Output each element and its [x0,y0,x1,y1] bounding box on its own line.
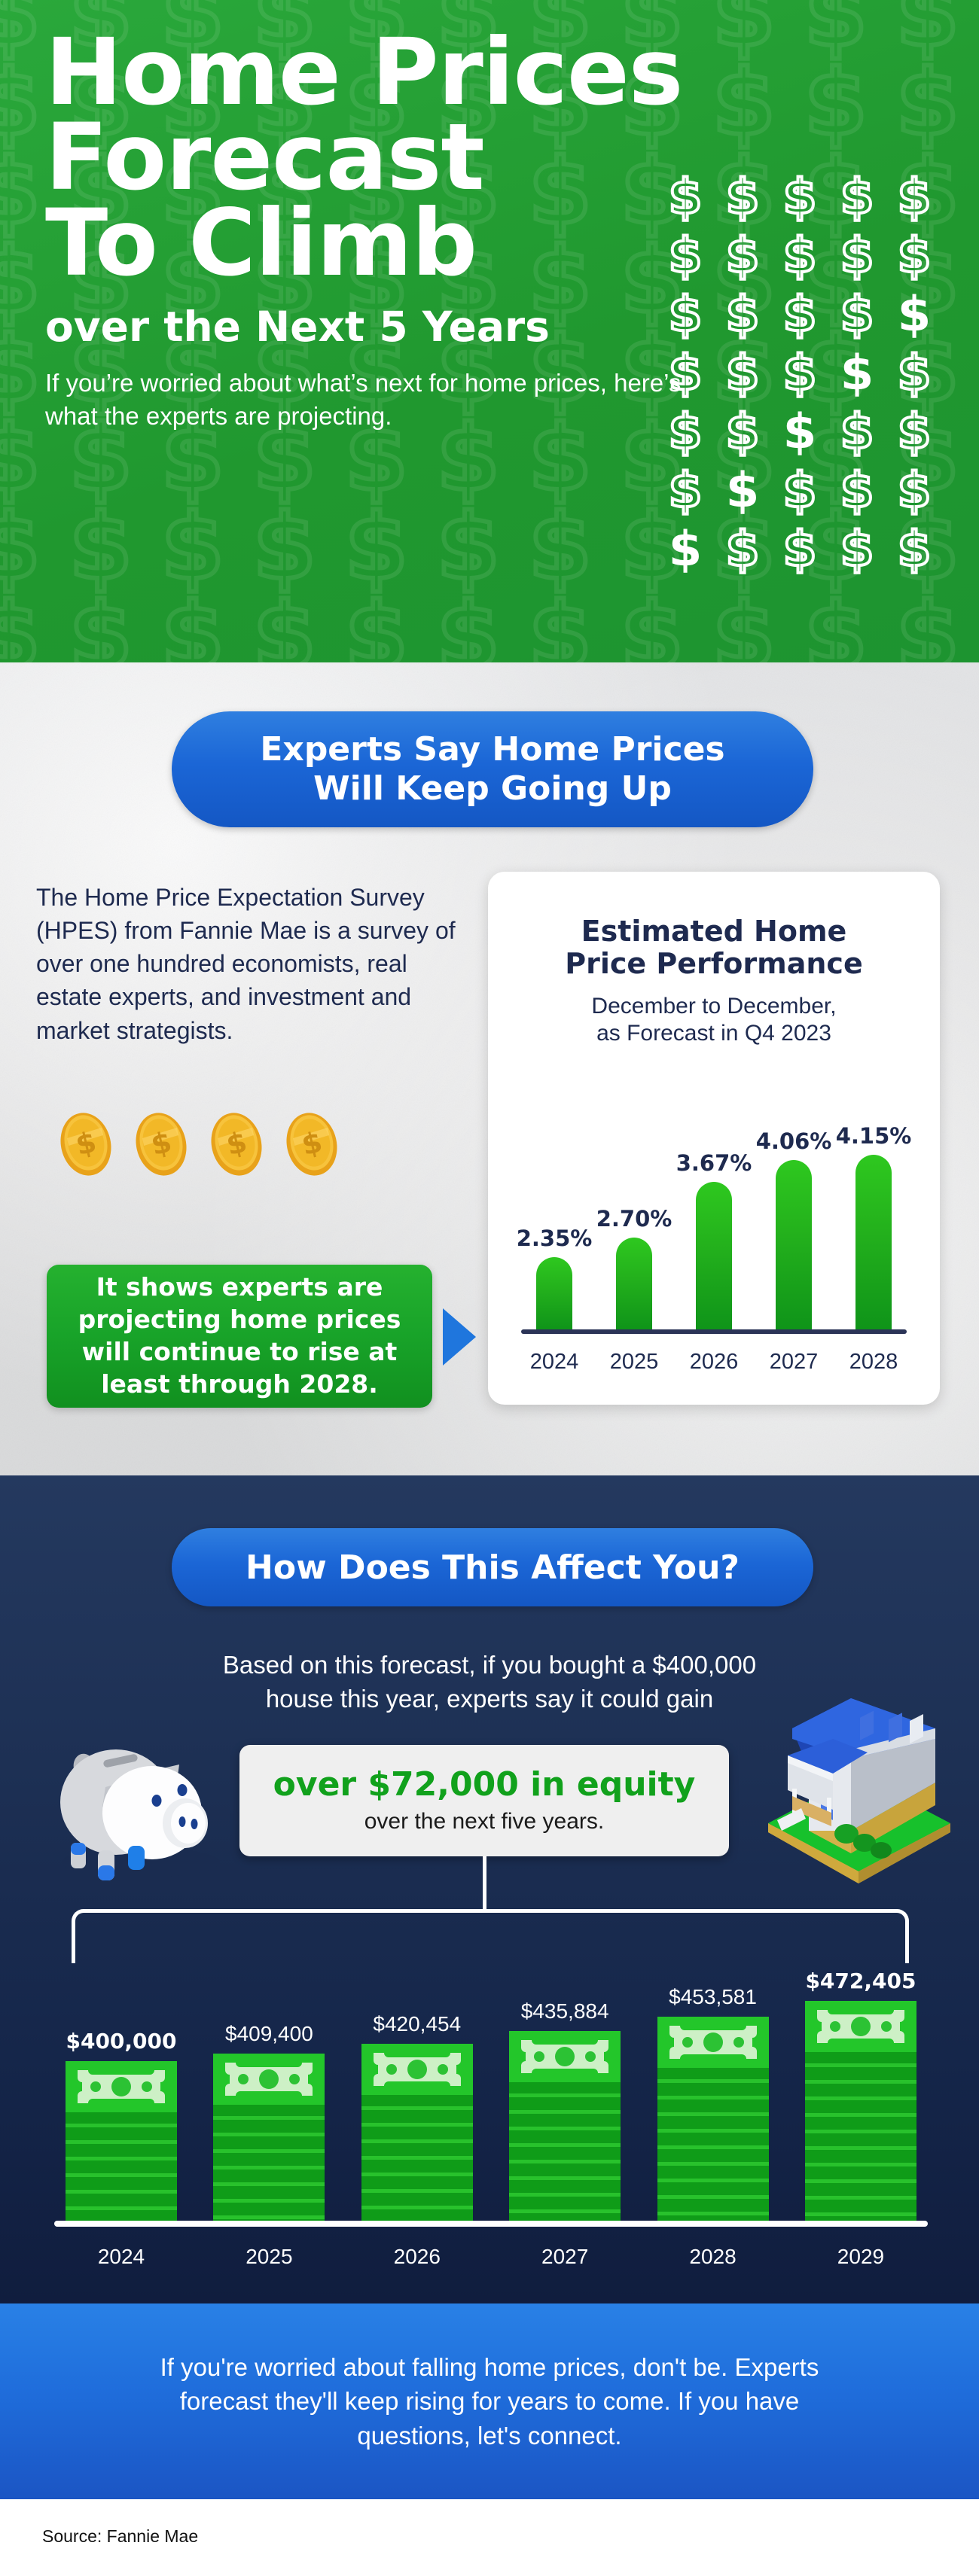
chart1-bar-group: 2.35% [521,1226,587,1329]
dollar-sign-icon: $ [886,463,943,522]
source-note: Source: Fannie Mae [42,2526,198,2547]
chart1-bar [776,1160,812,1329]
chart1-axis-line [521,1329,907,1334]
equity-subtext: over the next five years. [364,1809,605,1835]
hero-blurb: If you’re worried about what’s next for … [45,367,723,433]
coin-row: $$$$ [56,1108,341,1177]
chart2-bar [66,2061,177,2221]
dollar-sign-icon: $ [657,463,714,522]
chart2-category-label: 2029 [794,2245,928,2269]
chart2-category-label: 2024 [54,2245,188,2269]
dollar-sign-icon: $ [0,592,41,662]
cash-bill-icon [213,2054,325,2105]
card-title-line-2: Price Performance [565,947,862,980]
chart2-bar-group: $435,884 [498,1999,632,2221]
chart1-value-label: 4.06% [756,1128,832,1154]
cash-bill-icon [805,2001,916,2052]
dollar-sign-icon: $ [714,522,771,580]
chart2-bar [213,2054,325,2221]
chart2-value-label: $472,405 [805,1969,916,1993]
dollar-sign-icon: $ [804,592,868,662]
chart2-value-label: $409,400 [225,2022,313,2046]
forecast-card: Estimated Home Price Performance Decembe… [488,872,940,1405]
page-title: Home Prices Forecast To Climb [45,30,934,286]
cash-bill-icon [509,2031,621,2082]
dollar-sign-icon: $ [714,463,771,522]
chart2-value-label: $453,581 [669,1985,757,2009]
chart1-bar [855,1155,892,1329]
chart2-bar [657,2017,769,2221]
dollar-sign-icon: $ [161,503,224,593]
card-subtitle: December to December, as Forecast in Q4 … [488,993,940,1048]
chart2-bar [361,2044,473,2221]
dollar-sign-icon: $ [253,503,316,593]
dollar-sign-icon: $ [0,325,41,416]
chart1-value-label: 2.70% [596,1206,672,1232]
coin-icon: $ [132,1108,191,1177]
coin-icon: $ [282,1108,341,1177]
dollar-sign-icon: $ [437,503,500,593]
chart2-bar-group: $400,000 [54,2029,188,2221]
chart1-category-label: 2028 [840,1350,907,1375]
chart1-bar [536,1257,572,1329]
coin-icon: $ [207,1108,266,1177]
chart1-category-label: 2025 [601,1350,667,1375]
chart2-category-label: 2027 [498,2245,632,2269]
chart2-category-label: 2026 [350,2245,484,2269]
affect-lead-line-1: Based on this forecast, if you bought a … [223,1651,756,1679]
equity-highlight: over $72,000 in equity [273,1767,696,1803]
dollar-sign-icon: $ [771,463,828,522]
cash-bill-icon [361,2044,473,2095]
equity-growth-chart: $400,000$409,400$420,454$435,884$453,581… [54,1950,928,2273]
dollar-sign-icon: $ [657,522,714,580]
hero-content: Home Prices Forecast To Climb over the N… [45,30,934,433]
chart2-value-label: $420,454 [373,2012,461,2036]
chart1-value-label: 2.35% [517,1226,593,1251]
house-icon [762,1683,956,1894]
chart1-value-label: 4.15% [836,1123,912,1149]
chart2-value-label: $400,000 [66,2029,176,2054]
dollar-sign-icon: $ [161,592,224,662]
footer-cta-section: If you're worried about falling home pri… [0,2303,979,2499]
chart2-bar-group: $472,405 [794,1969,928,2221]
chart1-bar-group: 4.15% [840,1123,907,1329]
price-performance-chart: 2.35%2.70%3.67%4.06%4.15% 20242025202620… [521,1098,907,1378]
dollar-sign-icon: $ [621,592,684,662]
chart2-bar-group: $420,454 [350,2012,484,2221]
dollar-sign-icon: $ [0,0,41,60]
chart2-category-label: 2028 [646,2245,780,2269]
dollar-sign-icon: $ [771,522,828,580]
dollar-sign-icon: $ [0,503,41,593]
chart1-bar-group: 4.06% [761,1128,827,1329]
dollar-sign-icon: $ [529,592,592,662]
dollar-sign-icon: $ [0,59,41,149]
affect-pill-label: How Does This Affect You? [246,1548,740,1587]
infographic-page: $$$$$$$$$$$$$$$$$$$$$$$$$$$$$$$$$$$$$$$$… [0,0,979,2576]
chart2-axis-line [54,2221,928,2227]
dollar-sign-icon: $ [69,503,133,593]
experts-callout-text: It shows experts are projecting home pri… [66,1271,413,1401]
dollar-sign-icon: $ [0,148,41,238]
chart1-bar [696,1182,732,1329]
experts-pill-line-2: Will Keep Going Up [260,769,724,808]
chart1-category-label: 2024 [521,1350,587,1375]
experts-callout-box: It shows experts are projecting home pri… [47,1265,432,1408]
dollar-sign-icon: $ [345,503,408,593]
bracket-stem [483,1856,486,1911]
dollar-sign-icon: $ [712,592,776,662]
piggy-bank-icon [47,1703,235,1891]
coin-icon: $ [56,1108,115,1177]
dollar-sign-icon: $ [253,592,316,662]
dollar-sign-icon: $ [896,592,959,662]
affect-lead-line-2: house this year, experts say it could ga… [266,1685,713,1713]
hpes-paragraph: The Home Price Expectation Survey (HPES)… [36,881,473,1047]
dollar-sign-icon: $ [0,414,41,504]
hero-subtitle: over the Next 5 Years [45,304,934,350]
affect-pill-banner: How Does This Affect You? [172,1528,813,1606]
chart2-bar [509,2031,621,2221]
chart1-category-label: 2027 [761,1350,827,1375]
arrow-right-icon [443,1308,476,1366]
affect-lead-text: Based on this forecast, if you bought a … [151,1649,828,1716]
cash-bill-icon [657,2017,769,2068]
chart2-category-label: 2025 [202,2245,336,2269]
chart1-value-label: 3.67% [676,1150,752,1176]
chart2-bar [805,2001,916,2221]
chart2-bar-group: $409,400 [202,2022,336,2221]
chart1-bar-group: 2.70% [601,1206,667,1329]
dollar-sign-icon: $ [0,236,41,327]
hero-section: $$$$$$$$$$$$$$$$$$$$$$$$$$$$$$$$$$$$$$$$… [0,0,979,662]
experts-pill-banner: Experts Say Home Prices Will Keep Going … [172,711,813,827]
dollar-sign-icon: $ [886,522,943,580]
title-line-3: To Climb [45,201,934,286]
dollar-sign-icon: $ [437,592,500,662]
dollar-sign-icon: $ [529,503,592,593]
dollar-sign-icon: $ [828,522,886,580]
cash-bill-icon [66,2061,177,2112]
card-title-line-1: Estimated Home [581,915,847,948]
chart2-value-label: $435,884 [521,1999,609,2023]
experts-pill-line-1: Experts Say Home Prices [260,730,724,769]
equity-callout-box: over $72,000 in equity over the next fiv… [239,1745,729,1856]
card-subtitle-line-1: December to December, [591,994,836,1019]
dollar-sign-icon: $ [345,592,408,662]
chart1-category-label: 2026 [681,1350,747,1375]
chart2-bar-group: $453,581 [646,1985,780,2221]
card-title: Estimated Home Price Performance [488,915,940,981]
dollar-sign-icon: $ [828,463,886,522]
chart1-bar [616,1238,652,1329]
card-subtitle-line-2: as Forecast in Q4 2023 [596,1021,831,1046]
dollar-sign-icon: $ [69,592,133,662]
title-line-2: Forecast [45,115,934,200]
chart1-bar-group: 3.67% [681,1150,747,1329]
footer-text: If you're worried about falling home pri… [151,2350,828,2453]
